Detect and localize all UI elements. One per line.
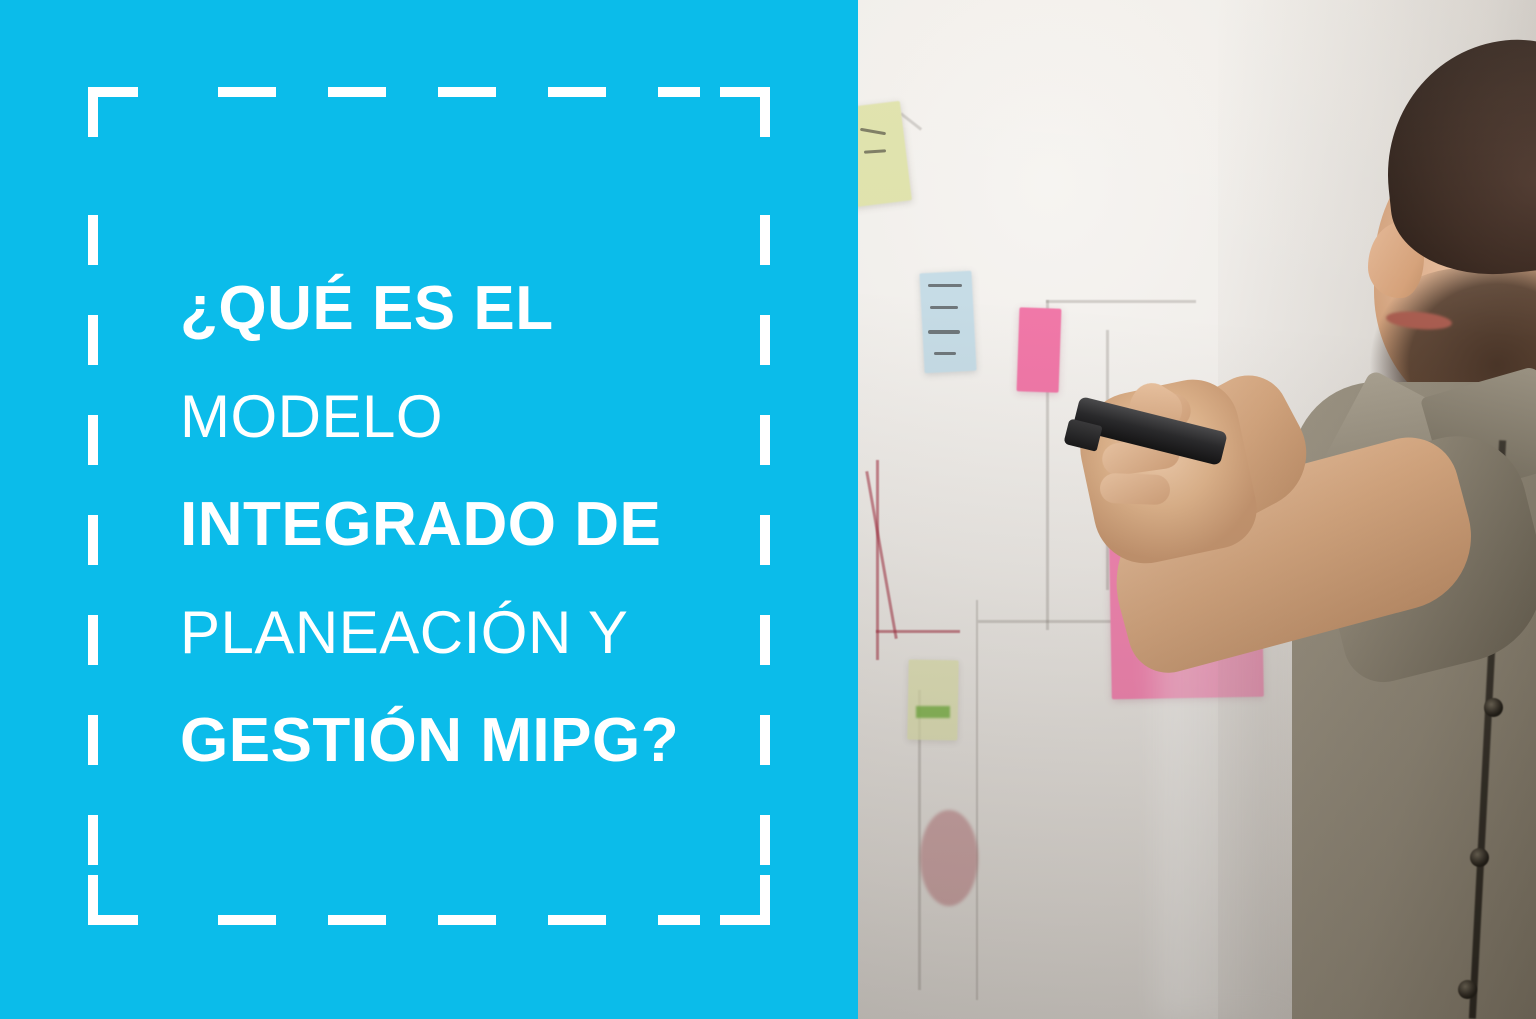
frame-dash-bottom-4 [548, 915, 606, 925]
title-block: ¿QUÉ ES EL MODELO INTEGRADO DE PLANEACIÓ… [180, 255, 800, 795]
blue-note-scribble-4 [934, 352, 956, 355]
frame-dash-top-4 [548, 87, 606, 97]
blue-note-scribble-1 [928, 284, 962, 287]
banner-canvas: ¿QUÉ ES EL MODELO INTEGRADO DE PLANEACIÓ… [0, 0, 1536, 1019]
frame-dash-left-7 [88, 815, 98, 865]
board-red-oval [920, 810, 978, 906]
frame-dash-left-3 [88, 415, 98, 465]
frame-dash-bottom-5 [658, 915, 700, 925]
frame-dash-left-4 [88, 515, 98, 565]
frame-dash-bottom-3 [438, 915, 496, 925]
board-red-line-h [876, 630, 960, 633]
title-line-4: PLANEACIÓN Y [180, 579, 800, 687]
frame-dash-bottom-2 [328, 915, 386, 925]
title-line-2: MODELO [180, 363, 800, 471]
shirt-button-4 [1458, 980, 1477, 999]
frame-dash-bottom-1 [218, 915, 276, 925]
title-line-3: INTEGRADO DE [180, 471, 800, 579]
frame-dash-top-2 [328, 87, 386, 97]
pink-sticky-note-small [1017, 307, 1062, 392]
yellow-sticky-note-lower [907, 660, 958, 741]
board-trace-6 [976, 600, 978, 1000]
frame-dash-left-2 [88, 315, 98, 365]
green-highlight-mark [916, 706, 950, 718]
frame-dash-top-5 [658, 87, 700, 97]
frame-corner-top-right-v [760, 87, 770, 137]
shirt-button-3 [1470, 848, 1489, 867]
frame-dash-right-7 [760, 815, 770, 865]
finger-ring [1099, 473, 1170, 505]
frame-dash-top-3 [438, 87, 496, 97]
frame-corner-bottom-right-v [760, 875, 770, 925]
left-cyan-panel: ¿QUÉ ES EL MODELO INTEGRADO DE PLANEACIÓ… [0, 0, 858, 1019]
blue-note-scribble-2 [930, 306, 958, 309]
frame-dash-left-6 [88, 715, 98, 765]
shirt-button-2 [1484, 698, 1503, 717]
title-line-1: ¿QUÉ ES EL [180, 255, 800, 363]
photo-man-writing-on-whiteboard [858, 0, 1536, 1019]
frame-dash-left-1 [88, 215, 98, 265]
frame-corner-bottom-left-v [88, 875, 98, 925]
title-line-5: GESTIÓN MIPG? [180, 687, 800, 795]
blue-note-scribble-3 [928, 330, 960, 334]
frame-dash-top-1 [218, 87, 276, 97]
person-figure [1086, 0, 1536, 1019]
frame-corner-top-left-v [88, 87, 98, 137]
frame-dash-left-5 [88, 615, 98, 665]
